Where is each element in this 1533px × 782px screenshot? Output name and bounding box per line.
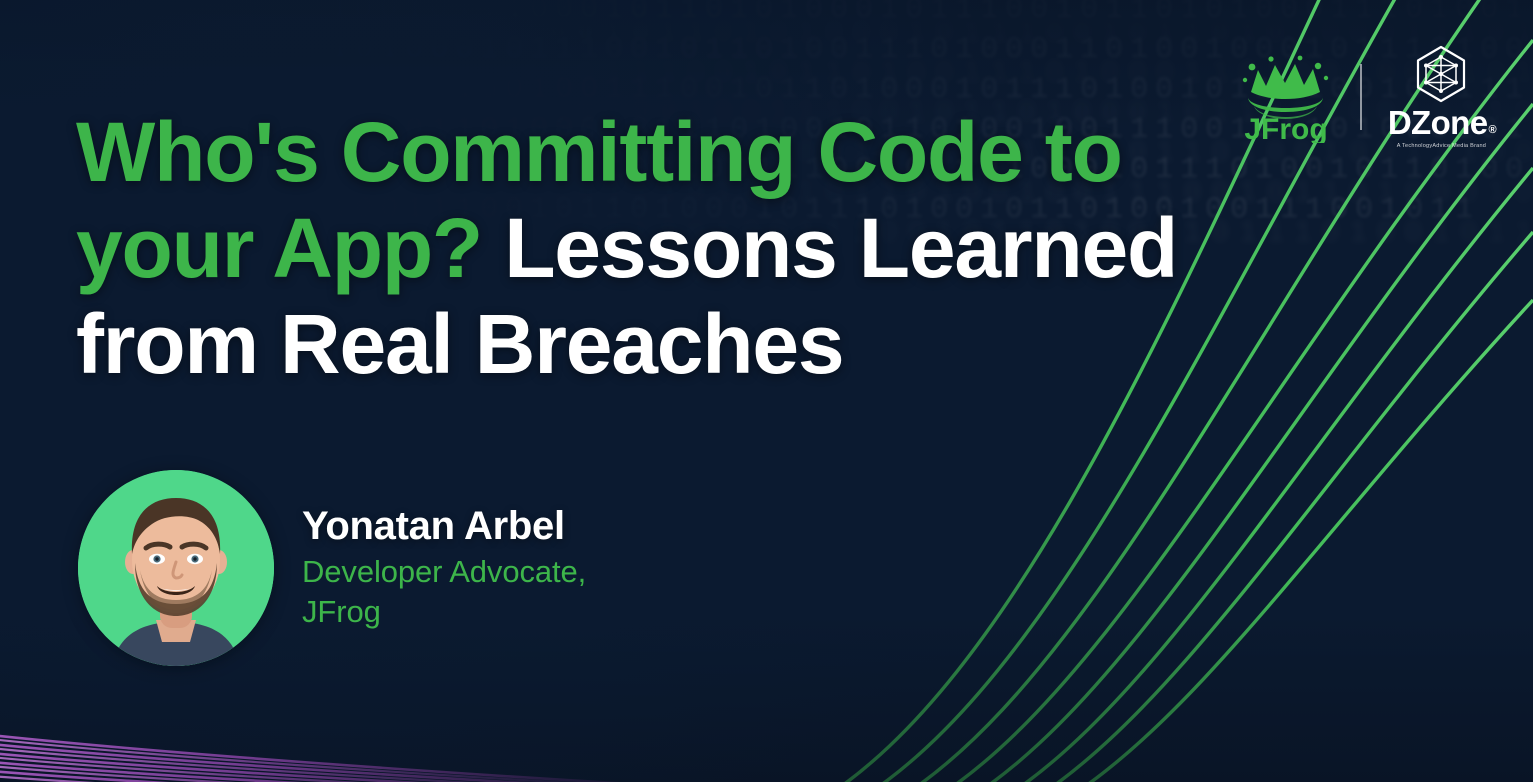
speaker-role-line-2: JFrog (302, 593, 586, 630)
avatar (78, 470, 274, 666)
title-line-3: from Real Breaches (76, 297, 843, 391)
title-line-1: Who's Committing Code to (76, 105, 1122, 199)
dzone-hexagon-icon (1412, 44, 1470, 104)
registered-trademark-icon: ® (1488, 124, 1496, 136)
speaker-block: Yonatan Arbel Developer Advocate, JFrog (78, 470, 586, 666)
speaker-text: Yonatan Arbel Developer Advocate, JFrog (302, 502, 586, 634)
dzone-tagline: A TechnologyAdvice Media Brand (1397, 143, 1486, 149)
speaker-name: Yonatan Arbel (302, 502, 586, 550)
presentation-slide: 1001011100010110101000101110010110101000… (0, 0, 1533, 782)
logo-bar: JFrog (1238, 44, 1495, 149)
jfrog-logo: JFrog (1238, 51, 1334, 143)
dzone-wordmark-text: DZone (1388, 104, 1488, 141)
dzone-logo: DZone® A TechnologyAdvice Media Brand (1388, 44, 1495, 149)
title-line-2-accent: your App? (76, 201, 482, 295)
avatar-portrait (78, 470, 274, 666)
logo-divider (1360, 64, 1362, 130)
slide-title: Who's Committing Code to your App? Lesso… (76, 104, 1206, 392)
jfrog-wordmark: JFrog (1244, 113, 1327, 143)
dzone-wordmark: DZone® (1388, 106, 1495, 139)
title-line-2-plain: Lessons Learned (504, 201, 1177, 295)
speaker-role-line-1: Developer Advocate, (302, 553, 586, 590)
